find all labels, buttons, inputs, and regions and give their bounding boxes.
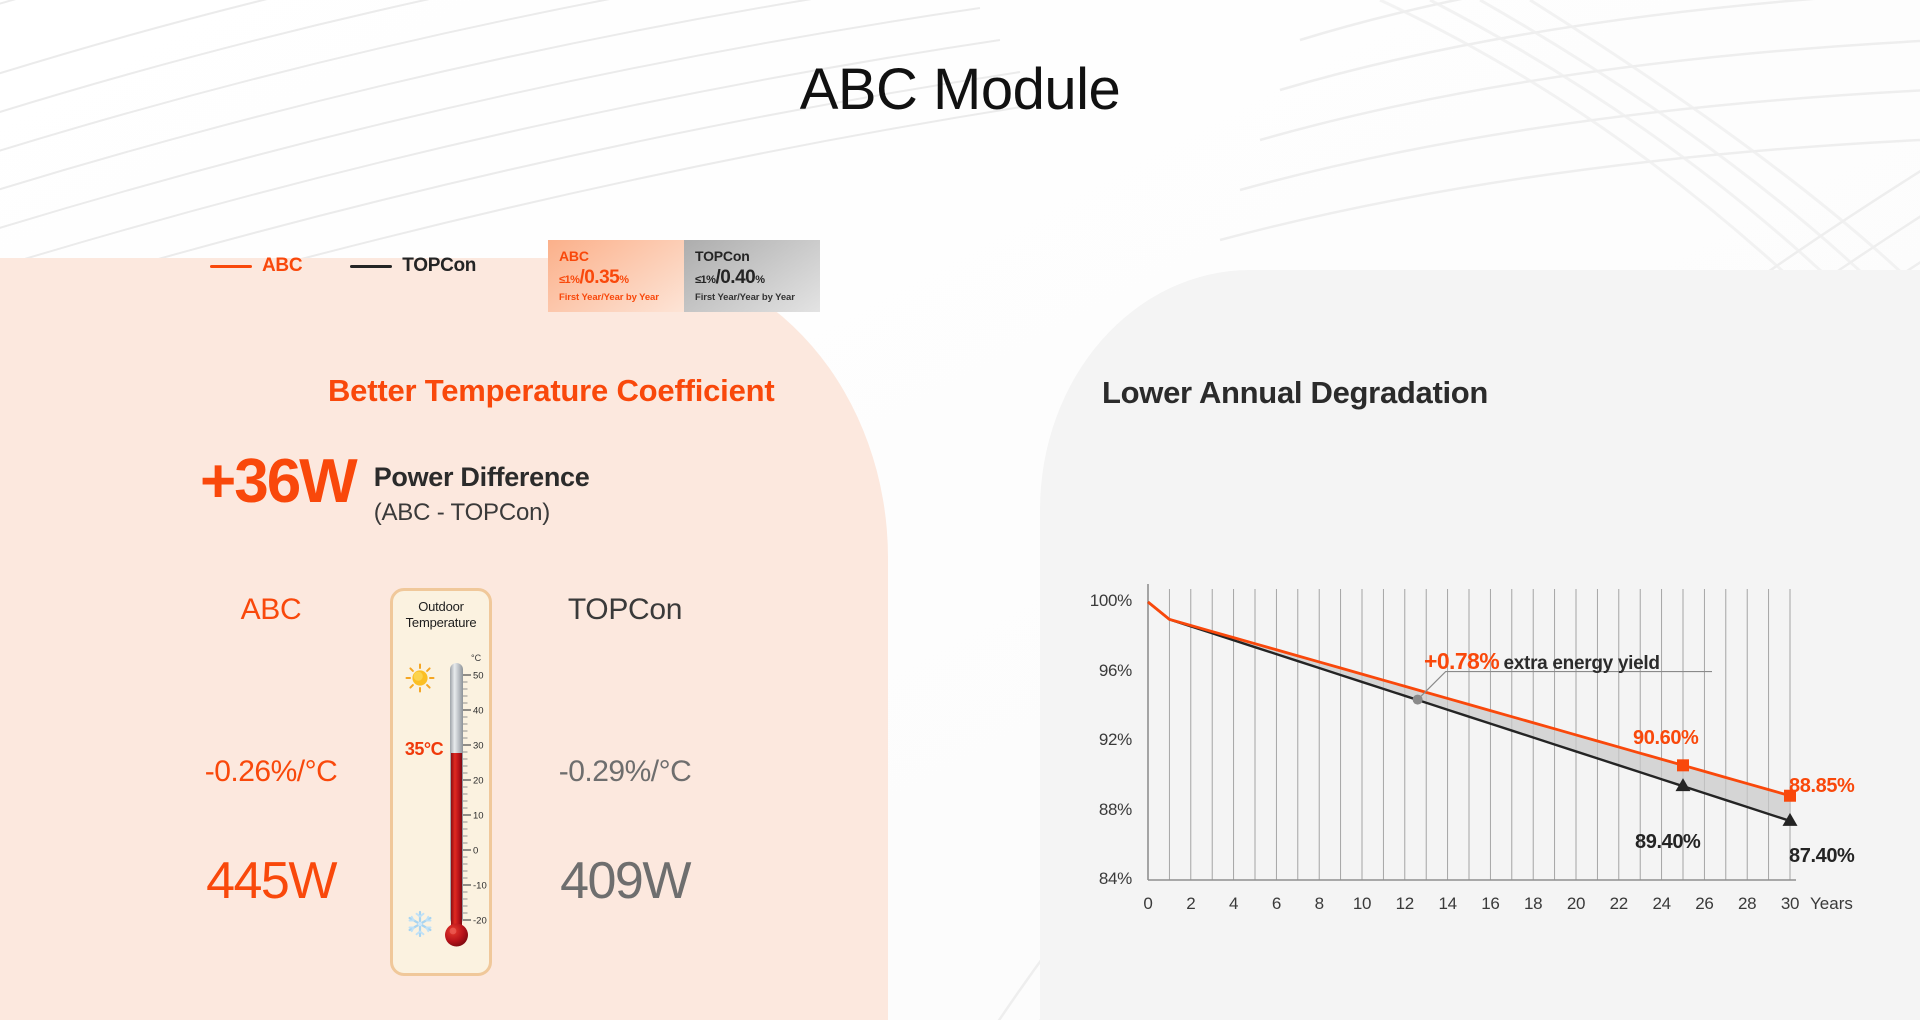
chart-xtick-16: 16	[1470, 894, 1510, 914]
spec-abc-first-year: ≤1	[559, 274, 570, 286]
spec-abc-note: First Year/Year by Year	[559, 292, 673, 303]
spec-topcon-value: ≤1%/0.40%	[695, 268, 809, 287]
legend-item-abc[interactable]: ABC	[210, 255, 302, 277]
chart-xtick-14: 14	[1428, 894, 1468, 914]
extra-yield-label: extra energy yield	[1504, 653, 1660, 674]
chart-xaxis-title: Years	[1810, 894, 1853, 914]
legend-label-topcon: TOPCon	[402, 255, 476, 277]
chart-marker-abc-year25	[1677, 759, 1689, 771]
extra-energy-yield-annotation: +0.78% extra energy yield	[1424, 648, 1660, 675]
spec-abc-pct1: %	[570, 274, 579, 286]
chart-ytick-92: 92%	[1062, 730, 1132, 750]
legend-label-abc: ABC	[262, 255, 302, 277]
topcon-year30-label: 87.40%	[1789, 845, 1854, 868]
chart-xtick-12: 12	[1385, 894, 1425, 914]
chart-xtick-30: 30	[1770, 894, 1810, 914]
abc-year30-label: 88.85%	[1789, 775, 1854, 798]
spec-box-abc: ABC ≤1%/0.35% First Year/Year by Year	[548, 240, 684, 312]
chart-xtick-20: 20	[1556, 894, 1596, 914]
chart-ytick-88: 88%	[1062, 800, 1132, 820]
topcon-year25-label: 89.40%	[1635, 831, 1700, 854]
spec-abc-yearly: 0.35	[584, 267, 619, 288]
chart-ytick-84: 84%	[1062, 869, 1132, 889]
extra-yield-value: +0.78%	[1424, 648, 1499, 674]
chart-xtick-4: 4	[1214, 894, 1254, 914]
spec-abc-value: ≤1%/0.35%	[559, 268, 673, 287]
spec-topcon-name: TOPCon	[695, 249, 809, 264]
abc-year25-label: 90.60%	[1633, 727, 1698, 750]
annotation-leader-line	[1418, 672, 1712, 700]
spec-topcon-pct2: %	[755, 274, 764, 286]
spec-topcon-yearly: 0.40	[720, 267, 755, 288]
chart-xtick-26: 26	[1684, 894, 1724, 914]
spec-abc-name: ABC	[559, 249, 673, 264]
spec-box-topcon: TOPCon ≤1%/0.40% First Year/Year by Year	[684, 240, 820, 312]
page-title: ABC Module	[0, 56, 1920, 123]
spec-topcon-note: First Year/Year by Year	[695, 292, 809, 303]
chart-ytick-100: 100%	[1062, 591, 1132, 611]
chart-xtick-28: 28	[1727, 894, 1767, 914]
chart-legend: ABC TOPCon	[210, 255, 476, 277]
chart-xtick-2: 2	[1171, 894, 1211, 914]
degradation-line-chart	[0, 0, 1920, 1020]
chart-xtick-6: 6	[1256, 894, 1296, 914]
legend-item-topcon[interactable]: TOPCon	[350, 255, 476, 277]
chart-xtick-24: 24	[1642, 894, 1682, 914]
degradation-spec-boxes: ABC ≤1%/0.35% First Year/Year by Year TO…	[548, 240, 820, 312]
chart-xtick-0: 0	[1128, 894, 1168, 914]
spec-topcon-pct1: %	[706, 274, 715, 286]
legend-line-abc	[210, 265, 252, 268]
legend-line-topcon	[350, 265, 392, 268]
chart-xtick-22: 22	[1599, 894, 1639, 914]
chart-xtick-8: 8	[1299, 894, 1339, 914]
chart-xtick-10: 10	[1342, 894, 1382, 914]
spec-abc-pct2: %	[619, 274, 628, 286]
chart-xtick-18: 18	[1513, 894, 1553, 914]
chart-ytick-96: 96%	[1062, 661, 1132, 681]
spec-topcon-first-year: ≤1	[695, 274, 706, 286]
